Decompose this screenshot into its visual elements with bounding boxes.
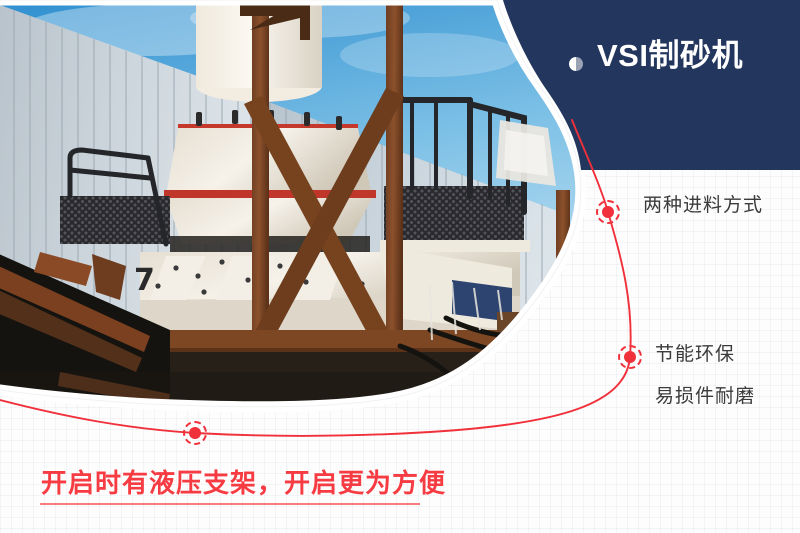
callout-marker-1[interactable] bbox=[596, 200, 620, 224]
feature-label-3: 易损件耐磨 bbox=[655, 387, 755, 406]
callout-marker-2[interactable] bbox=[618, 345, 642, 369]
promo-banner: 7 bbox=[0, 0, 800, 533]
feature-label-2: 节能环保 bbox=[655, 345, 735, 364]
title-bullet-icon bbox=[569, 57, 583, 71]
marker-dot-icon bbox=[602, 206, 614, 218]
page-title: VSI制砂机 bbox=[597, 40, 743, 71]
caption-text: 开启时有液压支架，开启更为方便 bbox=[41, 470, 446, 496]
callout-marker-3[interactable] bbox=[183, 421, 207, 445]
marker-dot-icon bbox=[189, 427, 201, 439]
caption-underline bbox=[40, 503, 420, 505]
callout-curve bbox=[0, 0, 800, 533]
marker-dot-icon bbox=[624, 351, 636, 363]
feature-label-1: 两种进料方式 bbox=[643, 196, 763, 215]
